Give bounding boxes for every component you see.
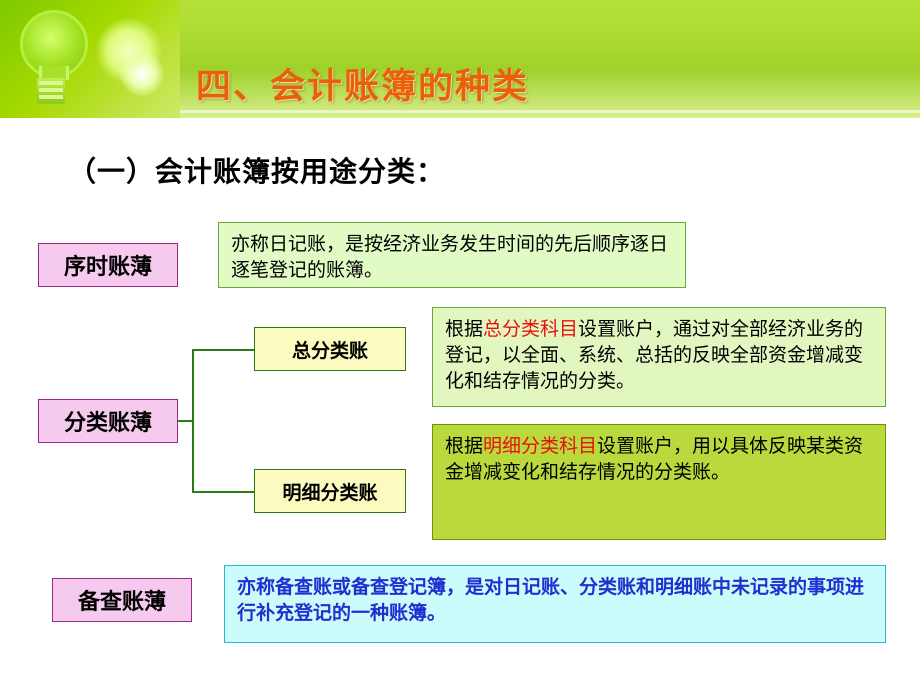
node-label-beicha: 备查账薄 bbox=[52, 578, 192, 622]
node-description-text: 亦称备查账或备查登记簿，是对日记账、分类账和明细账中未记录的事项进行补充登记的一… bbox=[237, 574, 875, 626]
node-description-text: 根据明细分类科目设置账户，用以具体反映某类资金增减变化和结存情况的分类账。 bbox=[445, 433, 875, 485]
connector-branch-top bbox=[192, 349, 254, 351]
node-label-text: 明细分类账 bbox=[282, 478, 377, 505]
header-decoration bbox=[0, 0, 180, 118]
node-label-mingxifenlei: 明细分类账 bbox=[254, 469, 406, 513]
lightbulb-icon bbox=[12, 8, 92, 110]
node-label-text: 分类账薄 bbox=[64, 405, 152, 437]
desc-emphasis: 总分类科目 bbox=[483, 318, 578, 340]
node-label-fenlei: 分类账薄 bbox=[38, 399, 178, 443]
desc-emphasis: 明细分类科目 bbox=[483, 435, 597, 457]
glow-decoration-2 bbox=[120, 52, 164, 96]
node-description-text: 根据总分类科目设置账户，通过对全部经济业务的登记，以全面、系统、总括的反映全部资… bbox=[445, 316, 875, 395]
node-label-zongfenlei: 总分类账 bbox=[254, 327, 406, 371]
node-label-text: 序时账薄 bbox=[64, 249, 152, 281]
header-banner: 四、会计账簿的种类 bbox=[0, 0, 920, 118]
node-description-zongfenlei: 根据总分类科目设置账户，通过对全部经济业务的登记，以全面、系统、总括的反映全部资… bbox=[432, 307, 886, 407]
node-description-shixushi: 亦称日记账，是按经济业务发生时间的先后顺序逐日逐笔登记的账簿。 bbox=[218, 222, 686, 288]
node-description-text: 亦称日记账，是按经济业务发生时间的先后顺序逐日逐笔登记的账簿。 bbox=[231, 231, 675, 283]
connector-stub-parent bbox=[178, 420, 194, 422]
page-title: 四、会计账簿的种类 bbox=[196, 58, 529, 109]
node-description-mingxifenlei: 根据明细分类科目设置账户，用以具体反映某类资金增减变化和结存情况的分类账。 bbox=[432, 424, 886, 540]
connector-branch-bottom bbox=[192, 491, 254, 493]
desc-prefix: 根据 bbox=[445, 318, 483, 340]
node-label-shixushi: 序时账薄 bbox=[38, 243, 178, 287]
node-label-text: 总分类账 bbox=[292, 336, 368, 363]
section-subtitle: （一）会计账簿按用途分类： bbox=[68, 150, 445, 190]
node-description-beicha: 亦称备查账或备查登记簿，是对日记账、分类账和明细账中未记录的事项进行补充登记的一… bbox=[224, 565, 886, 643]
desc-prefix: 根据 bbox=[445, 435, 483, 457]
node-label-text: 备查账薄 bbox=[78, 584, 166, 616]
header-divider bbox=[180, 110, 920, 113]
